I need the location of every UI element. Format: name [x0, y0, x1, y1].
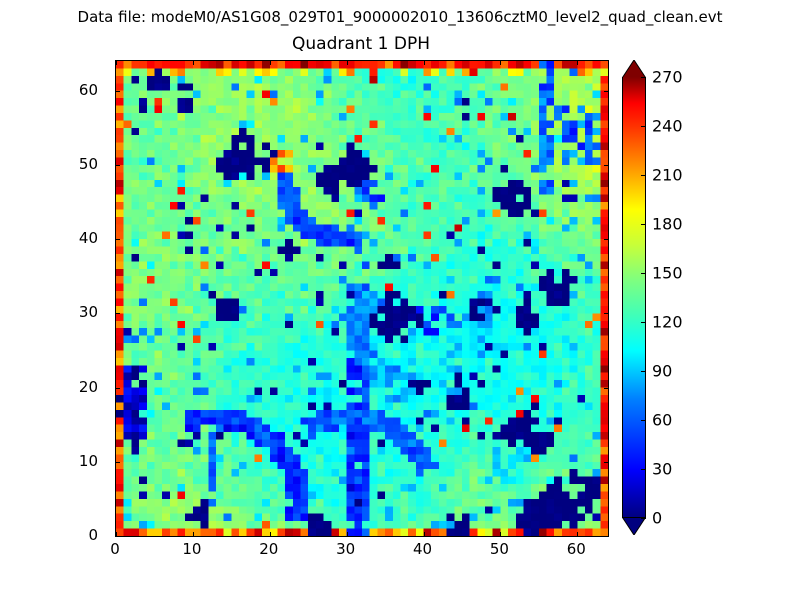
y-tick-mark	[116, 165, 120, 166]
colorbar-tick-label: 30	[652, 461, 672, 478]
colorbar-tick-label: 270	[652, 69, 683, 86]
heatmap-axes[interactable]	[115, 60, 609, 537]
y-tick-label: 10	[79, 453, 98, 469]
colorbar-tick-label: 90	[652, 363, 672, 380]
y-tick-mark	[116, 91, 120, 92]
colorbar-tick-mark	[641, 175, 646, 176]
y-tick-label: 20	[79, 379, 98, 395]
colorbar-tick-label: 150	[652, 265, 683, 282]
x-tick-mark	[500, 532, 501, 536]
x-tick-mark	[577, 61, 578, 65]
colorbar-tick-mark	[641, 420, 646, 421]
y-tick-mark	[604, 536, 608, 537]
x-tick-mark	[577, 532, 578, 536]
colorbar-gradient[interactable]	[622, 77, 646, 518]
x-tick-mark	[193, 532, 194, 536]
colorbar-tick-label: 240	[652, 118, 683, 135]
colorbar-tick-label: 60	[652, 412, 672, 429]
x-tick-label: 40	[413, 541, 432, 557]
x-tick-mark	[500, 61, 501, 65]
y-tick-label: 40	[79, 230, 98, 246]
y-tick-label: 30	[79, 304, 98, 320]
colorbar-under-arrow-icon	[622, 517, 646, 535]
x-tick-mark	[424, 532, 425, 536]
y-tick-mark	[604, 313, 608, 314]
colorbar-tick-mark	[641, 126, 646, 127]
colorbar-tick-mark	[641, 273, 646, 274]
y-tick-label: 0	[88, 527, 98, 543]
y-tick-mark	[604, 91, 608, 92]
x-tick-mark	[270, 532, 271, 536]
x-tick-mark	[116, 61, 117, 65]
x-tick-mark	[193, 61, 194, 65]
x-tick-mark	[347, 532, 348, 536]
x-tick-label: 10	[182, 541, 201, 557]
colorbar-tick-mark	[641, 77, 646, 78]
figure-suptitle: Data file: modeM0/AS1G08_029T01_90000020…	[0, 7, 800, 27]
colorbar-tick-mark	[641, 371, 646, 372]
y-tick-mark	[116, 313, 120, 314]
colorbar-tick-mark	[641, 518, 646, 519]
y-tick-mark	[604, 462, 608, 463]
y-tick-mark	[604, 239, 608, 240]
colorbar-tick-label: 210	[652, 167, 683, 184]
y-tick-mark	[604, 388, 608, 389]
figure-canvas: Data file: modeM0/AS1G08_029T01_90000020…	[0, 0, 800, 600]
colorbar-tick-label: 180	[652, 216, 683, 233]
x-tick-label: 30	[336, 541, 355, 557]
colorbar-tick-mark	[641, 224, 646, 225]
x-tick-label: 0	[110, 541, 120, 557]
y-tick-label: 50	[79, 156, 98, 172]
y-tick-mark	[116, 462, 120, 463]
colorbar-tick-label: 0	[652, 510, 662, 527]
x-tick-label: 50	[490, 541, 509, 557]
x-tick-label: 60	[567, 541, 586, 557]
heatmap-image[interactable]	[116, 61, 608, 536]
colorbar[interactable]	[622, 60, 646, 535]
y-tick-mark	[604, 165, 608, 166]
colorbar-tick-mark	[641, 322, 646, 323]
x-tick-mark	[270, 61, 271, 65]
x-tick-mark	[347, 61, 348, 65]
y-tick-mark	[116, 239, 120, 240]
colorbar-tick-mark	[641, 469, 646, 470]
y-tick-label: 60	[79, 82, 98, 98]
x-tick-label: 20	[259, 541, 278, 557]
x-tick-mark	[424, 61, 425, 65]
y-tick-mark	[116, 388, 120, 389]
y-tick-mark	[116, 536, 120, 537]
colorbar-tick-label: 120	[652, 314, 683, 331]
colorbar-over-arrow-icon	[622, 60, 646, 78]
axes-title: Quadrant 1 DPH	[115, 33, 607, 55]
